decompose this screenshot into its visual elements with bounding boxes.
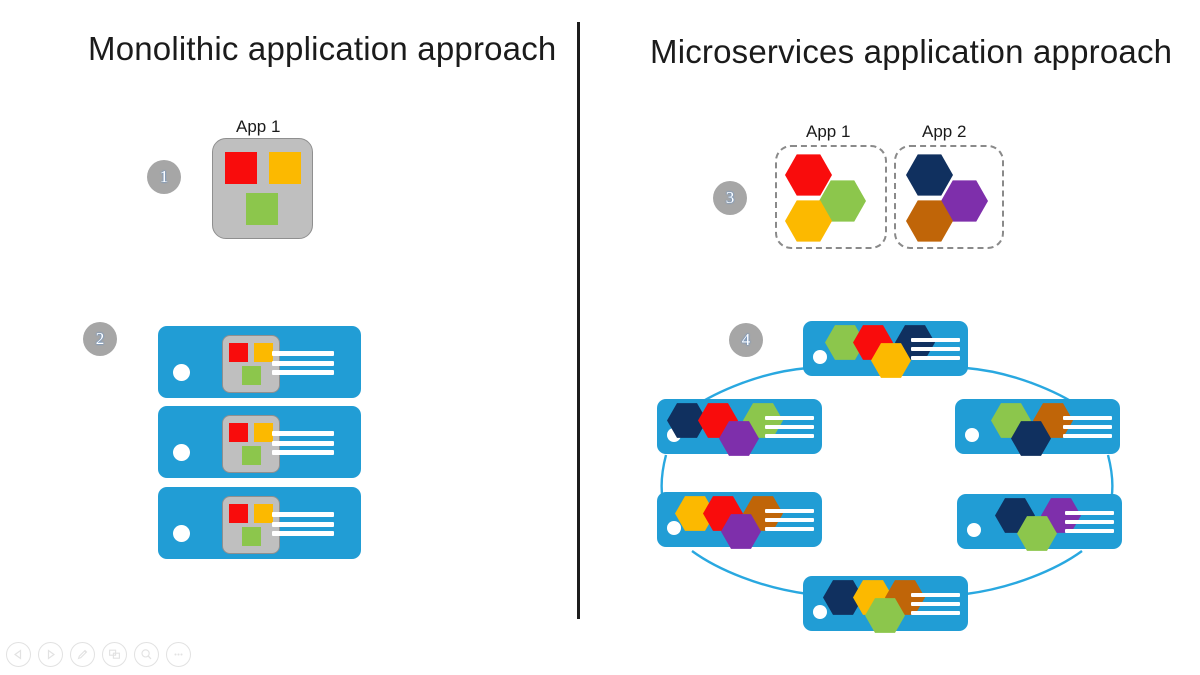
microservices-app1-label: App 1 xyxy=(806,122,850,142)
left-panel-title: Monolithic application approach xyxy=(88,30,557,68)
server-slots-icon xyxy=(272,512,334,536)
server-slots-icon xyxy=(911,338,960,360)
pen-icon[interactable] xyxy=(70,642,95,667)
microservices-app2-label: App 2 xyxy=(922,122,966,142)
microservices-server-bottom xyxy=(803,576,968,631)
monolith-module-red xyxy=(229,504,248,523)
server-slots-icon xyxy=(1063,416,1112,438)
magnifier-icon[interactable] xyxy=(134,642,159,667)
monolith-module-green xyxy=(242,366,261,385)
next-slide-icon[interactable] xyxy=(38,642,63,667)
monolith-module-red xyxy=(225,152,257,184)
server-led-icon xyxy=(173,444,190,461)
microservices-server-right-bottom xyxy=(957,494,1122,549)
service-hex-red xyxy=(785,153,832,197)
more-options-icon[interactable] xyxy=(166,642,191,667)
step-badge-3: 3 xyxy=(713,181,747,215)
slide-canvas: Monolithic application approach Microser… xyxy=(0,0,1200,675)
service-hex-navy xyxy=(906,153,953,197)
monolith-module-yellow xyxy=(254,423,273,442)
monolith-module-red xyxy=(229,423,248,442)
monolith-module-yellow xyxy=(269,152,301,184)
slides-grid-icon[interactable] xyxy=(102,642,127,667)
monolith-module-red xyxy=(229,343,248,362)
monolith-module-green xyxy=(242,446,261,465)
server-led-icon xyxy=(173,364,190,381)
presentation-toolbar xyxy=(6,642,191,667)
server-led-icon xyxy=(967,523,981,537)
step-badge-1: 1 xyxy=(147,160,181,194)
microservices-app2-box xyxy=(894,145,1004,249)
server-slots-icon xyxy=(272,431,334,455)
server-slots-icon xyxy=(1065,511,1114,533)
server-led-icon xyxy=(965,428,979,442)
monolith-module-green xyxy=(242,527,261,546)
monolith-app-box xyxy=(212,138,313,239)
server-led-icon xyxy=(813,350,827,364)
server-led-icon xyxy=(173,525,190,542)
right-panel-title: Microservices application approach xyxy=(650,33,1172,71)
server-slots-icon xyxy=(911,593,960,615)
microservices-server-left-top xyxy=(657,399,822,454)
microservices-server-right-top xyxy=(955,399,1120,454)
monolith-module-green xyxy=(246,193,278,225)
server-slots-icon xyxy=(765,416,814,438)
monolith-module-yellow xyxy=(254,343,273,362)
panel-divider xyxy=(577,22,580,619)
monolith-module-yellow xyxy=(254,504,273,523)
server-led-icon xyxy=(667,521,681,535)
server-led-icon xyxy=(813,605,827,619)
microservices-server-top xyxy=(803,321,968,376)
previous-slide-icon[interactable] xyxy=(6,642,31,667)
server-slots-icon xyxy=(765,509,814,531)
monolith-server-2 xyxy=(158,406,361,478)
step-badge-4: 4 xyxy=(729,323,763,357)
step-badge-2: 2 xyxy=(83,322,117,356)
monolith-server-3 xyxy=(158,487,361,559)
monolith-server-1 xyxy=(158,326,361,398)
microservices-app1-box xyxy=(775,145,887,249)
microservices-server-left-bottom xyxy=(657,492,822,547)
server-slots-icon xyxy=(272,351,334,375)
monolith-app-label: App 1 xyxy=(236,117,280,137)
